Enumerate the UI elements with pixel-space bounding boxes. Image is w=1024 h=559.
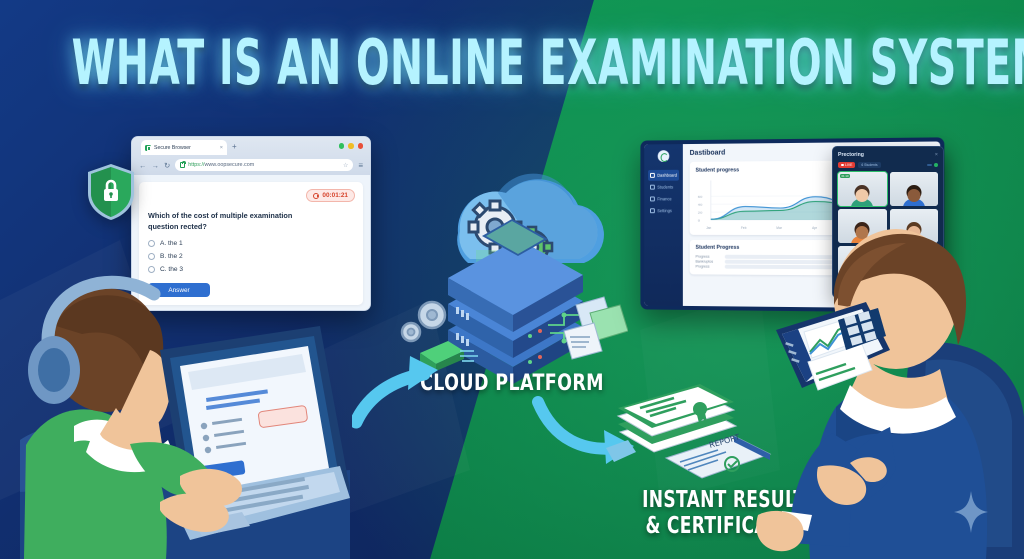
menu-icon[interactable]: ≡ xyxy=(358,161,363,170)
clock-icon xyxy=(313,193,319,199)
sidebar-item-settings[interactable]: Settings xyxy=(648,205,679,216)
sidebar-item-label: Finance xyxy=(657,196,671,201)
sparkle-icon xyxy=(954,491,988,533)
svg-text:20: 20 xyxy=(698,211,703,215)
page-title: WHAT IS AN ONLINE EXAMINATION SYSTEM? xyxy=(72,26,953,99)
lock-icon xyxy=(180,162,185,168)
connection-status xyxy=(927,163,938,167)
question-text: Which of the cost of multiple examinatio… xyxy=(148,211,309,232)
browser-nav-row: ← → ↻ https://www.oopsecure.com ☆ ≡ xyxy=(132,155,370,175)
paper-sheet-blue xyxy=(606,440,636,462)
bookmark-star-icon[interactable]: ☆ xyxy=(343,162,348,169)
arrow-to-cloud-icon xyxy=(352,350,442,430)
sidebar-item-label: Settings xyxy=(657,208,672,213)
new-tab-icon[interactable]: + xyxy=(232,142,237,151)
svg-text:40: 40 xyxy=(698,203,703,207)
poster-canvas: WHAT IS AN ONLINE EXAMINATION SYSTEM? Se… xyxy=(0,0,1024,559)
window-minimize-dot[interactable] xyxy=(339,143,345,149)
sidebar-item-finance[interactable]: Finance xyxy=(648,193,679,204)
browser-tab[interactable]: Secure Browser × xyxy=(141,140,227,155)
window-maximize-dot[interactable] xyxy=(348,143,354,149)
shield-favicon-icon xyxy=(145,145,151,151)
browser-tab-row: Secure Browser × + xyxy=(132,137,370,155)
svg-text:60: 60 xyxy=(698,195,703,199)
live-badge-label: LIVE xyxy=(845,163,852,167)
progress-bar-label: Bankruptos xyxy=(695,260,720,264)
timer-value: 00:01:21 xyxy=(322,192,348,199)
security-shield-icon xyxy=(86,163,136,221)
progress-bar-label: Progress xyxy=(695,255,720,259)
window-controls[interactable] xyxy=(339,143,364,149)
brand-logo-icon xyxy=(658,150,670,162)
signal-icon xyxy=(927,164,932,165)
close-tab-icon[interactable]: × xyxy=(220,145,223,151)
gear-icon-side xyxy=(402,302,445,341)
finance-icon xyxy=(650,197,654,201)
live-dot-icon xyxy=(841,164,844,167)
gear-icon xyxy=(650,209,654,213)
chart-title: Student progress xyxy=(695,167,739,173)
sidebar-item-students[interactable]: Students xyxy=(648,182,679,193)
window-close-dot[interactable] xyxy=(358,143,364,149)
student-count-badge: 6 Students xyxy=(858,162,880,168)
url-text: https://www.oopsecure.com xyxy=(188,162,254,168)
address-bar[interactable]: https://www.oopsecure.com ☆ xyxy=(175,159,353,171)
svg-text:0: 0 xyxy=(698,219,700,223)
sidebar-item-dashboard[interactable]: Dashboard xyxy=(648,170,679,181)
reload-icon[interactable]: ↻ xyxy=(164,161,170,170)
back-icon[interactable]: ← xyxy=(139,161,147,170)
users-icon xyxy=(650,185,654,189)
sidebar-item-label: Students xyxy=(657,185,673,190)
online-dot-icon xyxy=(934,163,938,167)
student-illustration xyxy=(20,230,350,559)
forward-icon[interactable]: → xyxy=(152,161,160,170)
tile-timer-badge: 01:10 xyxy=(840,174,850,178)
proctoring-title: Prectoring xyxy=(838,152,864,158)
dashboard-icon xyxy=(650,173,654,177)
chart-x-tick: Jan xyxy=(706,226,711,230)
close-icon[interactable]: × xyxy=(935,152,938,158)
browser-tab-title: Secure Browser xyxy=(154,145,191,151)
sidebar-item-label: Dashboard xyxy=(657,173,677,178)
progress-bar-label: Progress xyxy=(695,265,720,269)
browser-chrome: Secure Browser × + ← → ↻ https://www.oop… xyxy=(132,137,370,175)
dashboard-sidebar: Dashboard Students Finance Settings xyxy=(644,144,683,306)
tablet-device xyxy=(762,296,892,406)
exam-timer: 00:01:21 xyxy=(306,189,355,202)
live-badge: LIVE xyxy=(838,162,855,168)
